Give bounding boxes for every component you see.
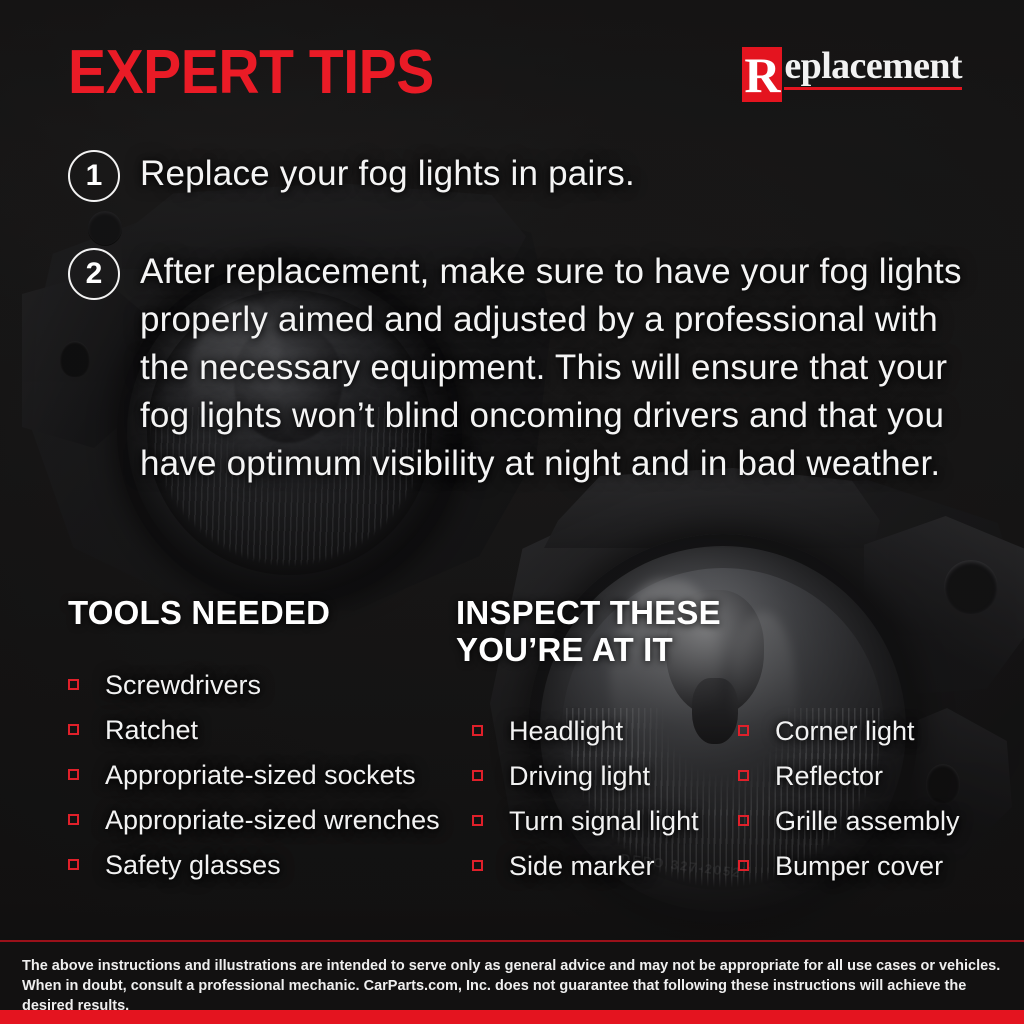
list-item[interactable]: Bumper cover — [738, 843, 960, 888]
list-item[interactable]: Driving light — [472, 753, 699, 798]
checkbox-icon[interactable] — [68, 769, 79, 780]
checkbox-icon[interactable] — [68, 679, 79, 690]
list-item[interactable]: Appropriate-sized wrenches — [68, 797, 440, 842]
tools-needed-checklist: Screwdrivers Ratchet Appropriate-sized s… — [68, 662, 440, 887]
list-item-label: Safety glasses — [105, 850, 281, 880]
list-item-label: Ratchet — [105, 715, 198, 745]
list-item-label: Driving light — [509, 761, 650, 791]
bottom-accent-bar — [0, 1010, 1024, 1024]
tip-item-2: 2 After replacement, make sure to have y… — [68, 248, 970, 488]
list-item-label: Bumper cover — [775, 851, 943, 881]
checkbox-icon[interactable] — [472, 725, 483, 736]
tip-text: Replace your fog lights in pairs. — [140, 150, 635, 202]
list-item[interactable]: Appropriate-sized sockets — [68, 752, 440, 797]
logo-wordmark: eplacement — [784, 47, 962, 94]
list-item[interactable]: Ratchet — [68, 707, 440, 752]
checkbox-icon[interactable] — [472, 860, 483, 871]
list-item-label: Headlight — [509, 716, 623, 746]
replacement-brand-logo: R eplacement — [742, 47, 962, 102]
list-item-label: Turn signal light — [509, 806, 699, 836]
checkbox-icon[interactable] — [738, 725, 749, 736]
inspect-checklist-column-a: Headlight Driving light Turn signal ligh… — [472, 708, 699, 888]
list-item[interactable]: Corner light — [738, 708, 960, 753]
tip-text: After replacement, make sure to have you… — [140, 248, 970, 488]
inspect-checklist-column-b: Corner light Reflector Grille assembly B… — [738, 708, 960, 888]
poster-content: EXPERT TIPS R eplacement 1 Replace your … — [0, 0, 1024, 1024]
checkbox-icon[interactable] — [68, 859, 79, 870]
list-item-label: Appropriate-sized wrenches — [105, 805, 440, 835]
checkbox-icon[interactable] — [472, 815, 483, 826]
checkbox-icon[interactable] — [68, 814, 79, 825]
checkbox-icon[interactable] — [738, 815, 749, 826]
list-item-label: Grille assembly — [775, 806, 960, 836]
checkbox-icon[interactable] — [738, 860, 749, 871]
list-item[interactable]: Reflector — [738, 753, 960, 798]
checkbox-icon[interactable] — [68, 724, 79, 735]
logo-wordmark-text: eplacement — [784, 47, 962, 86]
list-item[interactable]: Safety glasses — [68, 842, 440, 887]
list-item-label: Screwdrivers — [105, 670, 261, 700]
list-item[interactable]: Screwdrivers — [68, 662, 440, 707]
list-item[interactable]: Grille assembly — [738, 798, 960, 843]
list-item-label: Reflector — [775, 761, 883, 791]
footer: The above instructions and illustrations… — [0, 942, 1024, 1010]
footer-disclaimer: The above instructions and illustrations… — [22, 956, 1002, 1016]
expert-tips-poster: DEPO 327-2052 EXPERT TIPS R eplacement 1… — [0, 0, 1024, 1024]
tip-item-1: 1 Replace your fog lights in pairs. — [68, 150, 635, 202]
tip-number-badge: 2 — [68, 248, 120, 300]
tip-number-badge: 1 — [68, 150, 120, 202]
checkbox-icon[interactable] — [472, 770, 483, 781]
list-item[interactable]: Turn signal light — [472, 798, 699, 843]
logo-underline — [784, 87, 962, 90]
list-item-label: Appropriate-sized sockets — [105, 760, 416, 790]
logo-monogram: R — [742, 47, 782, 102]
list-item-label: Side marker — [509, 851, 655, 881]
checkbox-icon[interactable] — [738, 770, 749, 781]
inspect-these-heading: INSPECT THESE YOU’RE AT IT — [456, 594, 756, 668]
list-item-label: Corner light — [775, 716, 915, 746]
tools-needed-heading: TOOLS NEEDED — [68, 594, 330, 631]
list-item[interactable]: Side marker — [472, 843, 699, 888]
page-title: EXPERT TIPS — [68, 42, 434, 104]
list-item[interactable]: Headlight — [472, 708, 699, 753]
